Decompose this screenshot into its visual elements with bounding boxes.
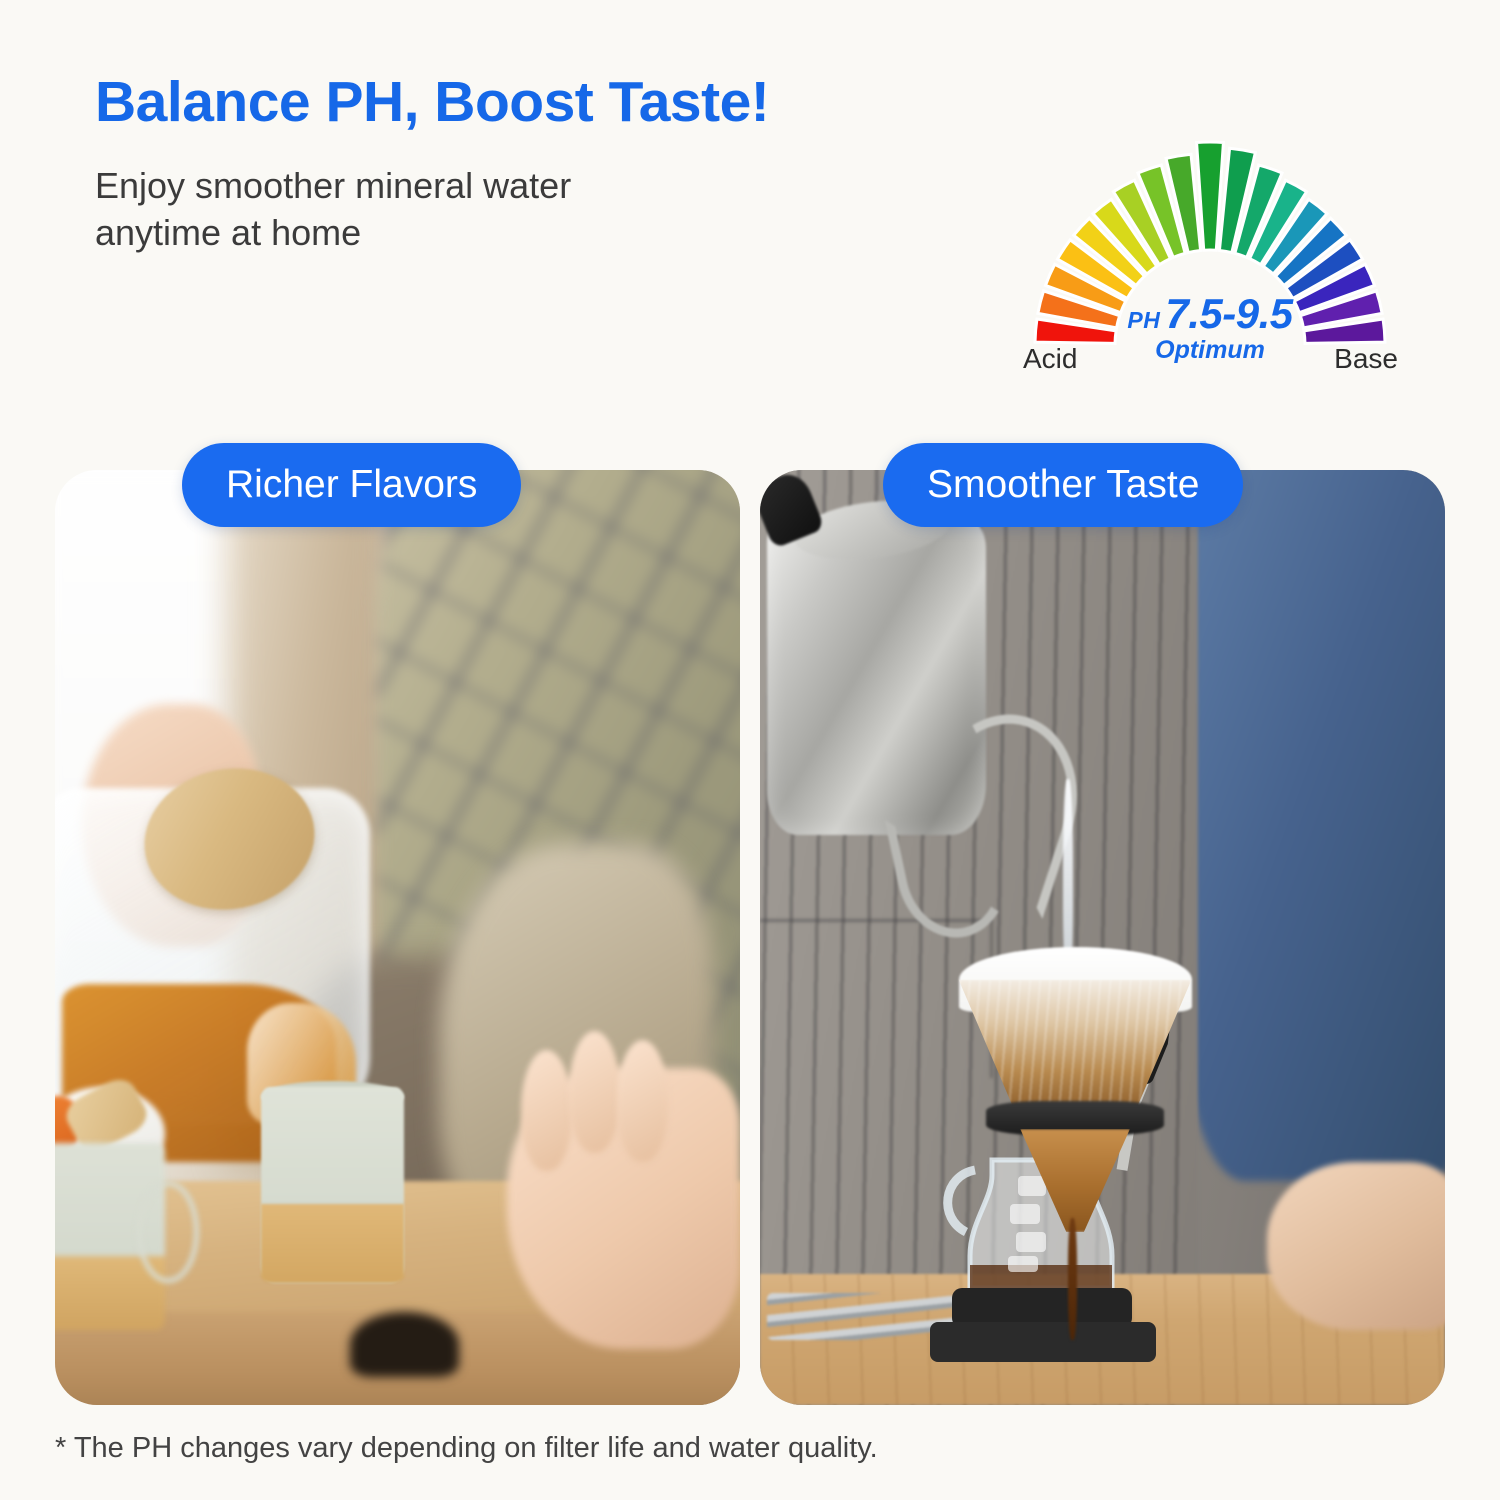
feature-panels <box>55 470 1445 1405</box>
ph-range-value: 7.5-9.5 <box>1165 293 1292 335</box>
photo-pour-over-coffee <box>760 470 1445 1405</box>
subtitle-line-1: Enjoy smoother mineral water <box>95 162 1045 210</box>
ph-gauge-segment <box>1197 142 1224 250</box>
footnote-disclaimer: * The PH changes vary depending on filte… <box>55 1432 878 1465</box>
ph-acid-label: Acid <box>1023 343 1077 375</box>
subtitle-line-2: anytime at home <box>95 209 1045 257</box>
badge-smoother-taste[interactable]: Smoother Taste <box>883 443 1243 527</box>
page-title: Balance PH, Boost Taste! <box>95 72 1045 134</box>
badge-richer-flavors[interactable]: Richer Flavors <box>182 443 521 527</box>
panel-richer-flavors <box>55 470 740 1405</box>
ph-unit-label: PH <box>1127 309 1160 332</box>
photo-tea-pour <box>55 470 740 1405</box>
page-subtitle: Enjoy smoother mineral water anytime at … <box>95 162 1045 258</box>
ph-gauge: PH 7.5-9.5 Optimum Acid Base <box>1000 95 1420 395</box>
header-block: Balance PH, Boost Taste! Enjoy smoother … <box>95 72 1045 257</box>
panel-smoother-taste <box>760 470 1445 1405</box>
ph-base-label: Base <box>1334 343 1398 375</box>
